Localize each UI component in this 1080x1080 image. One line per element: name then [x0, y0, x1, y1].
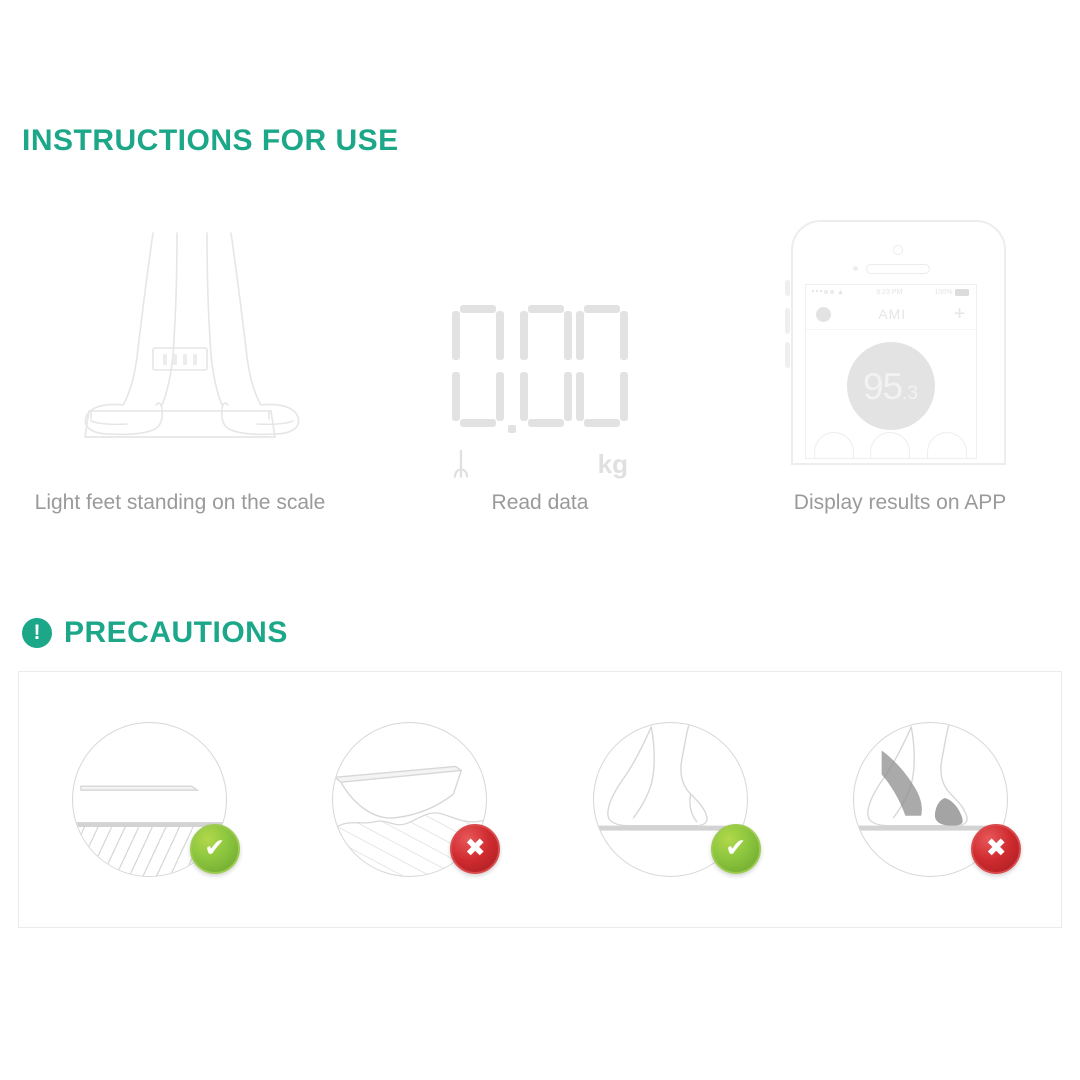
- precaution-item-bare-feet: ✔: [540, 722, 801, 877]
- earpiece-speaker: [866, 264, 930, 274]
- battery-icon: [955, 289, 969, 296]
- precaution-illustration-feet-with-socks: ✖: [853, 722, 1008, 877]
- instruction-step-display-results-on-app: ▲ 9:23 PM 100% AMI + 95: [720, 215, 1080, 535]
- lcd-decimal-point: [508, 425, 516, 433]
- weight-readout: 95 .3: [847, 342, 935, 430]
- instruction-step-read-data: ᛦ kg Read data: [360, 215, 720, 535]
- app-top-bar: AMI +: [806, 299, 976, 330]
- smartphone-illustration: ▲ 9:23 PM 100% AMI + 95: [720, 215, 1080, 465]
- precautions-panel: ✔: [18, 671, 1062, 928]
- legs-standing-on-scale-illustration: [0, 215, 360, 465]
- lcd-digits: [440, 305, 640, 433]
- avatar[interactable]: [816, 307, 831, 322]
- status-badge-ok: ✔: [190, 824, 240, 874]
- lcd-unit-label: kg: [598, 449, 628, 480]
- exclamation-icon: !: [22, 618, 52, 648]
- wifi-icon: ▲: [837, 289, 844, 296]
- lcd-digit-0: [452, 305, 504, 427]
- precaution-illustration-soft-uneven-carpet: ✖: [332, 722, 487, 877]
- status-bar-time: 9:23 PM: [876, 289, 902, 296]
- precaution-item-hard-flat-floor: ✔: [19, 722, 280, 877]
- precaution-item-feet-with-socks: ✖: [801, 722, 1062, 877]
- precaution-illustration-bare-feet: ✔: [593, 722, 748, 877]
- proximity-sensor-icon: [853, 266, 858, 271]
- status-bar: ▲ 9:23 PM 100%: [806, 285, 976, 299]
- app-title: AMI: [878, 306, 906, 322]
- lcd-digit-1: [520, 305, 572, 427]
- instruction-steps: Light feet standing on the scale: [0, 215, 1080, 535]
- precaution-item-soft-uneven-carpet: ✖: [280, 722, 541, 877]
- page-title: INSTRUCTIONS FOR USE: [22, 124, 399, 158]
- status-badge-no: ✖: [450, 824, 500, 874]
- instruction-step-caption: Light feet standing on the scale: [35, 491, 326, 515]
- front-camera-icon: [893, 245, 903, 255]
- app-bottom-nav: [806, 428, 976, 458]
- instruction-step-stand-on-scale: Light feet standing on the scale: [0, 215, 360, 535]
- battery-percent-label: 100%: [935, 289, 953, 296]
- lcd-digit-2: [576, 305, 628, 427]
- phone-screen: ▲ 9:23 PM 100% AMI + 95: [805, 284, 977, 459]
- instruction-step-caption: Read data: [492, 491, 589, 515]
- lcd-display-illustration: ᛦ kg: [360, 215, 720, 465]
- weight-decimal-value: .3: [902, 384, 918, 403]
- precautions-title: PRECAUTIONS: [64, 616, 288, 650]
- signal-strength-icon: [812, 290, 835, 295]
- nav-arc-left[interactable]: [814, 432, 854, 458]
- status-badge-no: ✖: [971, 824, 1021, 874]
- bluetooth-icon: ᛦ: [452, 450, 470, 480]
- nav-arc-right[interactable]: [927, 432, 967, 458]
- exclamation-icon-glyph: !: [34, 622, 41, 643]
- add-measurement-button[interactable]: +: [954, 304, 966, 324]
- nav-arc-center[interactable]: [870, 432, 910, 458]
- precaution-illustration-hard-flat-floor: ✔: [72, 722, 227, 877]
- weight-integer-value: 95: [863, 342, 902, 405]
- status-badge-ok: ✔: [711, 824, 761, 874]
- precautions-heading: ! PRECAUTIONS: [22, 616, 288, 650]
- instruction-step-caption: Display results on APP: [794, 491, 1006, 515]
